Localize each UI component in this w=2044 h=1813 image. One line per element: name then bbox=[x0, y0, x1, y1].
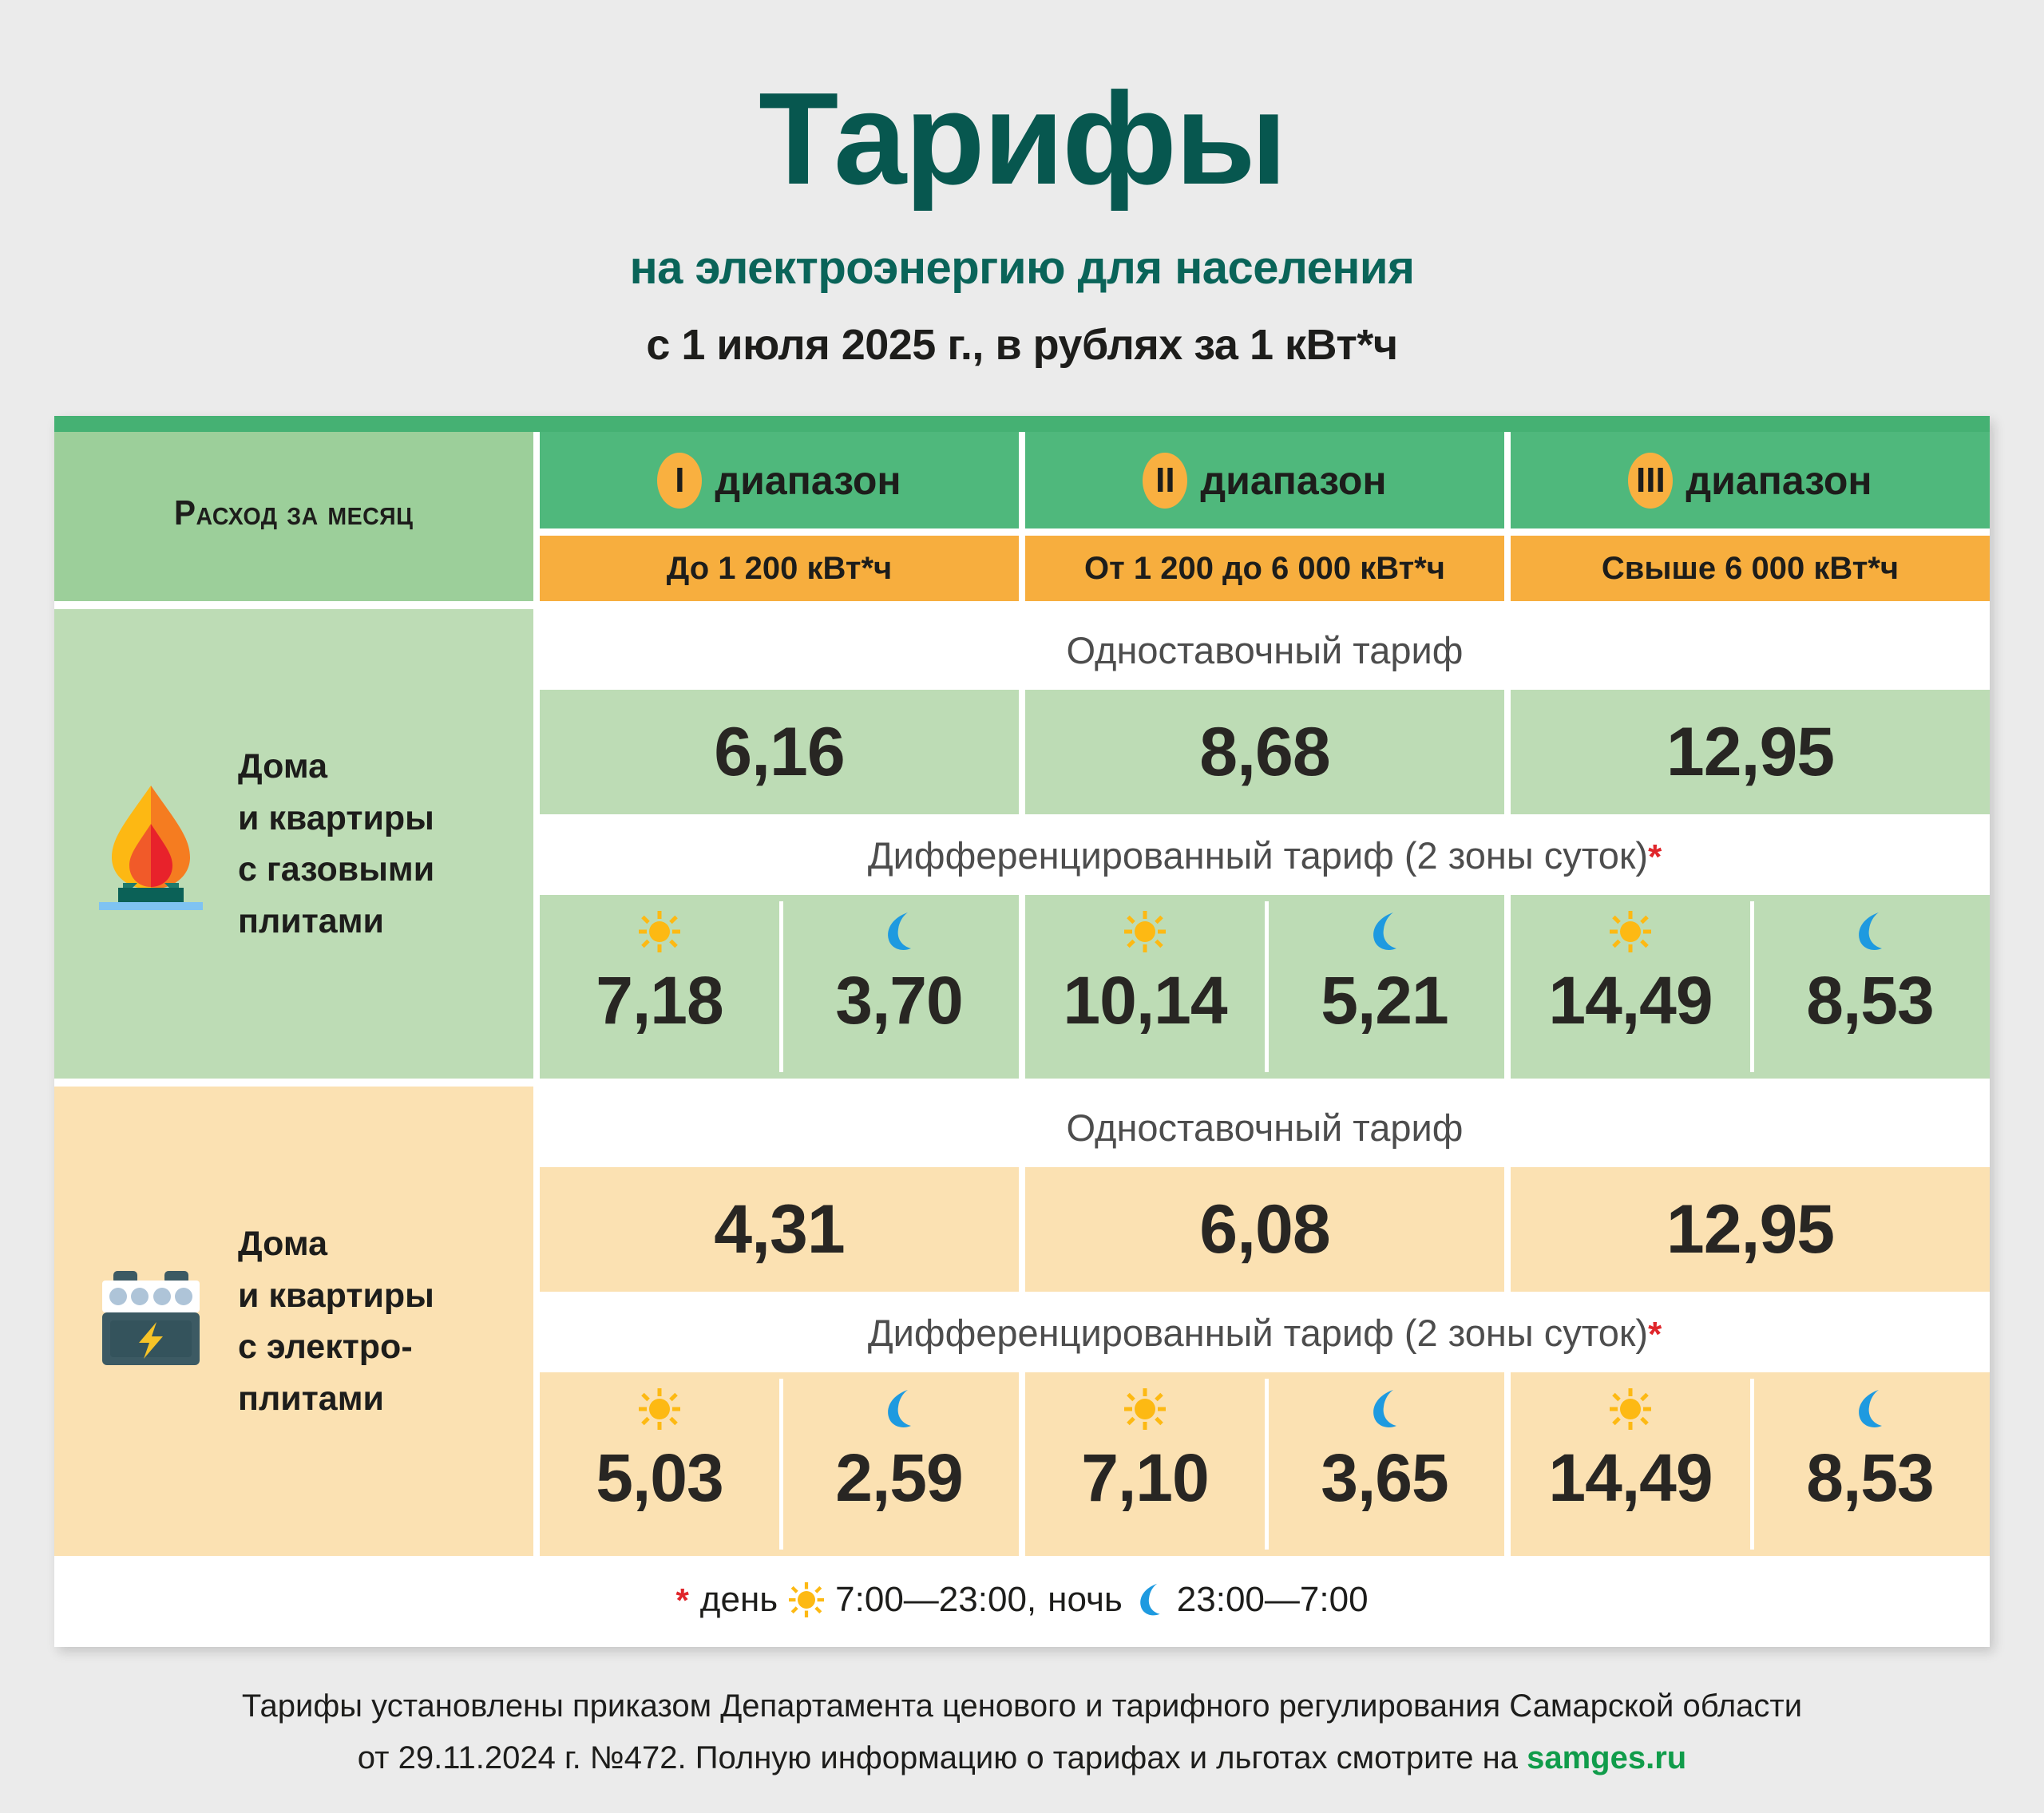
value-single-electric-3: 12,95 bbox=[1511, 1167, 1990, 1292]
diff-day-electric-1: 5,03 bbox=[540, 1372, 779, 1556]
diff-group-electric-3: 14,49 8,53 bbox=[1511, 1372, 1990, 1556]
sun-icon bbox=[789, 1582, 824, 1617]
single-tariff-row-gas: 6,16 8,68 12,95 bbox=[540, 690, 1990, 814]
value-single-gas-2: 8,68 bbox=[1025, 690, 1504, 814]
diff-day-electric-3: 14,49 bbox=[1511, 1372, 1750, 1556]
diff-group-gas-1: 7,18 3,70 bbox=[540, 895, 1019, 1079]
value-diff-day-electric-3: 14,49 bbox=[1548, 1439, 1712, 1517]
section-electric-body: Одноставочный тариф 4,31 6,08 12,95 Дифф… bbox=[533, 1087, 1990, 1556]
disclaimer-line-2: от 29.11.2024 г. №472. Полную информацию… bbox=[54, 1732, 1990, 1784]
gas-flame-icon bbox=[91, 774, 211, 914]
value-diff-night-gas-3: 8,53 bbox=[1806, 962, 1934, 1039]
section-gas-body: Одноставочный тариф 6,16 8,68 12,95 Дифф… bbox=[533, 609, 1990, 1079]
section-electric: Дома и квартиры с электро- плитами Однос… bbox=[54, 1087, 1990, 1556]
band-title-diff-electric-text: Дифференцированный тариф (2 зоны суток) bbox=[868, 1312, 1648, 1354]
moon-icon bbox=[1366, 1387, 1403, 1431]
diff-tariff-row-gas: 7,18 3,70 bbox=[540, 895, 1990, 1079]
range-numeral-badge-1: I bbox=[657, 453, 702, 509]
value-single-electric-1: 4,31 bbox=[540, 1167, 1019, 1292]
value-diff-night-electric-1: 2,59 bbox=[835, 1439, 963, 1517]
footnote-day-range: 7:00—23:00, bbox=[835, 1580, 1036, 1620]
table-header: Расход за месяц I диапазон II диапазон I… bbox=[54, 432, 1990, 601]
infographic-page: Тарифы на электроэнергию для населения с… bbox=[0, 0, 2044, 1813]
range-subtitle-row: До 1 200 кВт*ч От 1 200 до 6 000 кВт*ч С… bbox=[533, 536, 1990, 601]
diff-night-gas-1: 3,70 bbox=[779, 895, 1019, 1079]
tariff-card: Расход за месяц I диапазон II диапазон I… bbox=[54, 416, 1990, 1647]
value-diff-day-electric-2: 7,10 bbox=[1081, 1439, 1209, 1517]
moon-icon bbox=[881, 1387, 917, 1431]
range-word-1: диапазон bbox=[715, 457, 901, 504]
sun-icon bbox=[639, 909, 680, 954]
value-diff-day-gas-1: 7,18 bbox=[596, 962, 723, 1039]
diff-night-electric-3: 8,53 bbox=[1750, 1372, 1990, 1556]
diff-group-gas-3: 14,49 8,53 bbox=[1511, 895, 1990, 1079]
diff-night-gas-3: 8,53 bbox=[1750, 895, 1990, 1079]
band-title-single-electric: Одноставочный тариф bbox=[540, 1087, 1990, 1167]
page-title: Тарифы bbox=[0, 73, 2044, 204]
value-diff-night-electric-3: 8,53 bbox=[1806, 1439, 1934, 1517]
diff-day-gas-1: 7,18 bbox=[540, 895, 779, 1079]
row-label-electric: Дома и квартиры с электро- плитами bbox=[54, 1087, 533, 1556]
band-title-diff-gas-text: Дифференцированный тариф (2 зоны суток) bbox=[868, 834, 1648, 877]
consumption-header-label: Расход за месяц bbox=[174, 493, 413, 533]
footnote-day-word: день bbox=[700, 1580, 778, 1620]
value-diff-night-electric-2: 3,65 bbox=[1321, 1439, 1448, 1517]
value-diff-day-gas-3: 14,49 bbox=[1548, 962, 1712, 1039]
diff-night-gas-2: 5,21 bbox=[1265, 895, 1504, 1079]
value-diff-day-gas-2: 10,14 bbox=[1063, 962, 1226, 1039]
moon-icon bbox=[1134, 1582, 1166, 1617]
row-label-electric-text: Дома и квартиры с электро- плитами bbox=[238, 1218, 434, 1424]
sun-icon bbox=[1610, 909, 1651, 954]
value-single-electric-2: 6,08 bbox=[1025, 1167, 1504, 1292]
range-numeral-badge-3: III bbox=[1628, 453, 1673, 509]
disclaimer-line-1: Тарифы установлены приказом Департамента… bbox=[54, 1680, 1990, 1732]
diff-day-gas-2: 10,14 bbox=[1025, 895, 1265, 1079]
moon-icon bbox=[1852, 1387, 1888, 1431]
sun-icon bbox=[1124, 909, 1166, 954]
moon-icon bbox=[881, 909, 917, 954]
sun-icon bbox=[1610, 1387, 1651, 1431]
range-limit-2: От 1 200 до 6 000 кВт*ч bbox=[1025, 536, 1504, 601]
page-subtitle-period: с 1 июля 2025 г., в рублях за 1 кВт*ч bbox=[0, 320, 2044, 370]
footnote-night-word: ночь bbox=[1048, 1580, 1123, 1620]
row-label-gas-text: Дома и квартиры с газовыми плитами bbox=[238, 741, 434, 947]
sun-icon bbox=[1124, 1387, 1166, 1431]
diff-night-electric-2: 3,65 bbox=[1265, 1372, 1504, 1556]
diff-asterisk-gas: * bbox=[1648, 837, 1662, 877]
value-single-gas-1: 6,16 bbox=[540, 690, 1019, 814]
range-word-3: диапазон bbox=[1686, 457, 1872, 504]
diff-group-electric-1: 5,03 2,59 bbox=[540, 1372, 1019, 1556]
electric-stove-icon bbox=[91, 1260, 211, 1384]
band-title-diff-electric: Дифференцированный тариф (2 зоны суток)* bbox=[540, 1292, 1990, 1372]
range-word-2: диапазон bbox=[1200, 457, 1386, 504]
range-numeral-badge-2: II bbox=[1143, 453, 1187, 509]
range-title-row: I диапазон II диапазон III диапазон bbox=[533, 432, 1990, 528]
site-link[interactable]: samges.ru bbox=[1527, 1740, 1686, 1775]
diff-night-electric-1: 2,59 bbox=[779, 1372, 1019, 1556]
range-header-2: II диапазон bbox=[1025, 432, 1504, 528]
diff-group-gas-2: 10,14 5,21 bbox=[1025, 895, 1504, 1079]
diff-asterisk-electric: * bbox=[1648, 1315, 1662, 1354]
moon-icon bbox=[1366, 909, 1403, 954]
page-subtitle: на электроэнергию для населения bbox=[0, 241, 2044, 295]
sun-icon bbox=[639, 1387, 680, 1431]
range-limit-1: До 1 200 кВт*ч bbox=[540, 536, 1019, 601]
moon-icon bbox=[1852, 909, 1888, 954]
value-diff-day-electric-1: 5,03 bbox=[596, 1439, 723, 1517]
header: Тарифы на электроэнергию для населения с… bbox=[0, 73, 2044, 370]
value-single-gas-3: 12,95 bbox=[1511, 690, 1990, 814]
band-title-diff-gas: Дифференцированный тариф (2 зоны суток)* bbox=[540, 814, 1990, 895]
section-gas: Дома и квартиры с газовыми плитами Однос… bbox=[54, 609, 1990, 1079]
band-title-single-gas: Одноставочный тариф bbox=[540, 609, 1990, 690]
range-header-1: I диапазон bbox=[540, 432, 1019, 528]
footnote-night-range: 23:00—7:00 bbox=[1177, 1580, 1369, 1620]
diff-tariff-row-electric: 5,03 2,59 bbox=[540, 1372, 1990, 1556]
card-top-strip bbox=[54, 416, 1990, 432]
value-diff-night-gas-1: 3,70 bbox=[835, 962, 963, 1039]
range-limit-3: Свыше 6 000 кВт*ч bbox=[1511, 536, 1990, 601]
consumption-header-cell: Расход за месяц bbox=[54, 432, 533, 601]
value-diff-night-gas-2: 5,21 bbox=[1321, 962, 1448, 1039]
disclaimer: Тарифы установлены приказом Департамента… bbox=[54, 1680, 1990, 1784]
time-zones-footnote: * день 7:00—23:00 bbox=[54, 1556, 1990, 1647]
diff-day-gas-3: 14,49 bbox=[1511, 895, 1750, 1079]
row-label-gas: Дома и квартиры с газовыми плитами bbox=[54, 609, 533, 1079]
range-header-3: III диапазон bbox=[1511, 432, 1990, 528]
diff-group-electric-2: 7,10 3,65 bbox=[1025, 1372, 1504, 1556]
footnote-asterisk: * bbox=[675, 1581, 688, 1620]
single-tariff-row-electric: 4,31 6,08 12,95 bbox=[540, 1167, 1990, 1292]
disclaimer-line-2-text: от 29.11.2024 г. №472. Полную информацию… bbox=[358, 1740, 1527, 1775]
diff-day-electric-2: 7,10 bbox=[1025, 1372, 1265, 1556]
range-columns: I диапазон II диапазон III диапазон До 1… bbox=[533, 432, 1990, 601]
